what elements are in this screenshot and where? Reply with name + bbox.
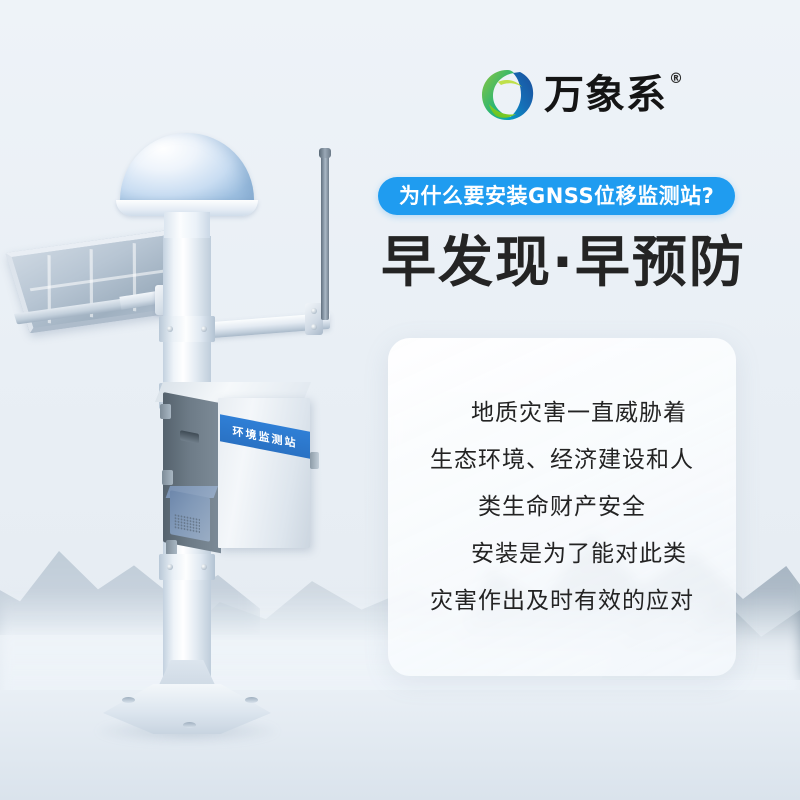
- mast-clamp: [159, 316, 215, 342]
- enclosure-hinge: [166, 540, 177, 555]
- brand-name: 万象系: [544, 72, 667, 118]
- bolt: [167, 564, 173, 570]
- gnss-antenna-dome: [120, 133, 254, 209]
- bolt: [311, 324, 317, 330]
- description-line: 类生命财产安全: [396, 484, 728, 531]
- base-bolt-hole: [122, 697, 135, 703]
- bolt: [311, 308, 317, 314]
- base-bolt-hole: [245, 697, 258, 703]
- base-bolt-hole: [183, 722, 196, 728]
- globe-swoosh-logo-icon: [480, 68, 534, 122]
- enclosure-latch: [310, 452, 319, 469]
- bolt: [167, 326, 173, 332]
- registered-trademark-icon: ®: [669, 72, 684, 86]
- bolt: [201, 326, 207, 332]
- antenna-rod: [321, 152, 329, 320]
- poster-canvas: 环境监测站: [0, 0, 800, 800]
- description-card-body: 地质灾害一直威胁着生态环境、经济建设和人类生命财产安全安装是为了能对此类灾害作出…: [388, 338, 736, 676]
- brand-name-wrap: 万象系 ®: [544, 75, 667, 115]
- antenna-rod-cap: [319, 148, 331, 158]
- description-line: 生态环境、经济建设和人: [396, 437, 728, 484]
- antenna-neck: [164, 212, 210, 238]
- monitoring-station-illustration: 环境监测站: [0, 0, 400, 800]
- enclosure-hinge: [160, 404, 171, 419]
- description-line: 地质灾害一直威胁着: [396, 390, 728, 437]
- question-pill-badge: 为什么要安装GNSS位移监测站?: [378, 177, 735, 215]
- page-title: 早发现·早预防: [381, 231, 746, 294]
- bolt: [201, 564, 207, 570]
- description-line: 灾害作出及时有效的应对: [396, 578, 728, 625]
- description-line: 安装是为了能对此类: [396, 531, 728, 578]
- brand-logo: 万象系 ®: [480, 68, 667, 122]
- enclosure-hinge: [162, 470, 173, 485]
- mast-clamp: [159, 554, 215, 580]
